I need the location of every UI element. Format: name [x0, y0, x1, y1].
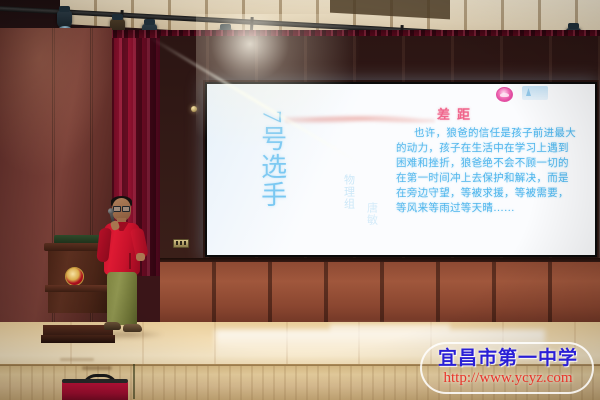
- apron-marking: [82, 366, 112, 370]
- side-wall-glow: [0, 28, 112, 178]
- slide-group-label: 物理组: [340, 174, 357, 210]
- projection-screen: 7号选手 物理组 唐敏 差距 也许，狼爸的信任是孩子前进最大的动力，孩子在生活中…: [207, 84, 595, 255]
- watermark-url: http://www.ycyz.com: [438, 370, 578, 387]
- stage-light-icon: [57, 11, 72, 28]
- presenter-left-shoe: [104, 322, 121, 330]
- auditorium-photo: 7号选手 物理组 唐敏 差距 也许，狼爸的信任是孩子前进最大的动力，孩子在生活中…: [0, 0, 600, 400]
- presenter-right-shoe: [123, 324, 142, 332]
- presenter: [95, 198, 151, 348]
- wall-socket-plate: [173, 239, 189, 248]
- wall-indicator-light: [191, 106, 197, 112]
- school-emblem-icon: [496, 87, 513, 102]
- red-bag: [62, 380, 128, 400]
- floor-marking: [60, 358, 94, 361]
- slide-vertical-heading: 7号选手: [257, 110, 287, 209]
- pants-seam: [133, 364, 135, 399]
- wood-wainscot: [160, 262, 600, 326]
- ink-wash-decoration: [285, 111, 435, 127]
- bag-top-trim: [62, 379, 128, 383]
- sponsor-logo-icon: [522, 86, 548, 100]
- shirt-placket: [129, 253, 131, 269]
- slide-title: 差距: [437, 104, 477, 123]
- school-crest-icon: [65, 267, 84, 286]
- presenter-right-hand: [136, 253, 145, 261]
- watermark: 宜昌市第一中学 http://www.ycyz.com: [420, 342, 594, 394]
- floor-reflection-highlight: [330, 324, 450, 332]
- slide-presenter-name: 唐敏: [363, 202, 380, 226]
- watermark-school-name: 宜昌市第一中学: [438, 349, 578, 369]
- slide-body-text: 也许，狼爸的信任是孩子前进最大的动力，孩子在生活中在学习上遇到困难和挫折，狼爸绝…: [396, 127, 578, 216]
- projection-screen-frame: 7号选手 物理组 唐敏 差距 也许，狼爸的信任是孩子前进最大的动力，孩子在生活中…: [205, 82, 597, 257]
- glasses-icon: [113, 206, 130, 210]
- presenter-pants: [107, 272, 137, 325]
